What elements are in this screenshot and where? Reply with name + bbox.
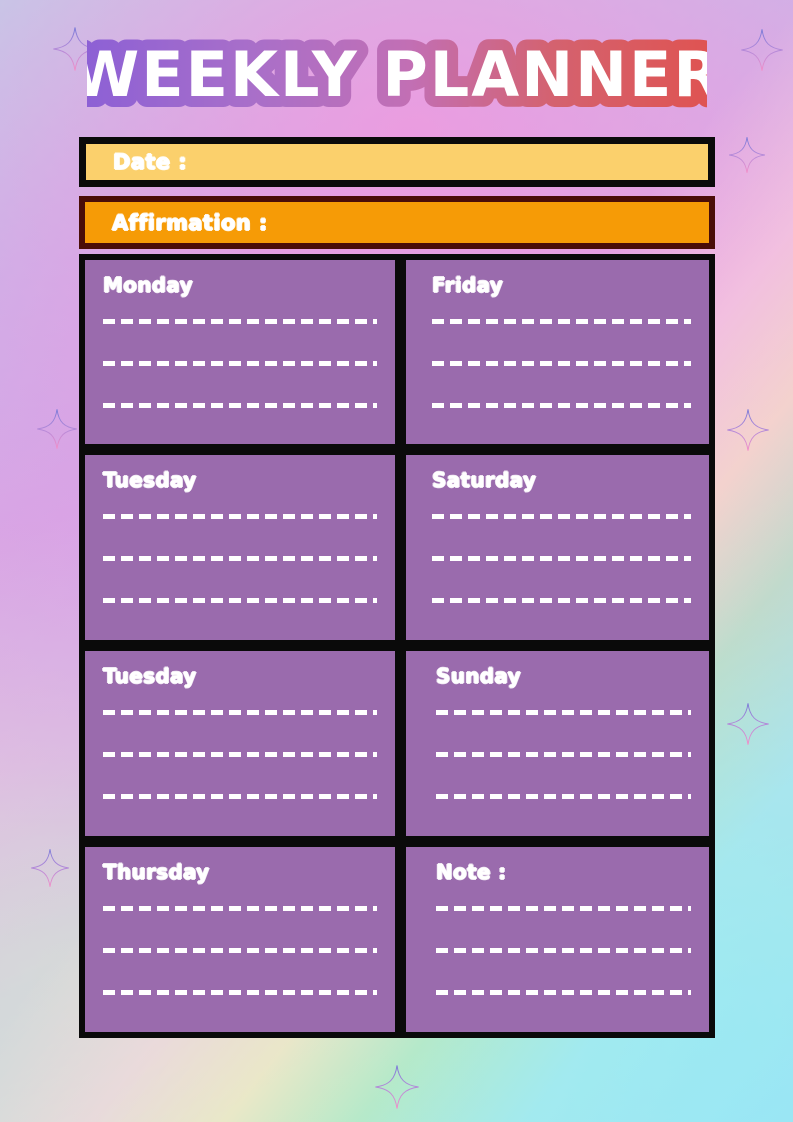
writing-lines[interactable] bbox=[432, 300, 691, 432]
sparkle-icon-bottom-center bbox=[374, 1064, 420, 1110]
sparkle-icon-right-middle bbox=[726, 408, 770, 452]
writing-line[interactable] bbox=[103, 598, 377, 603]
cell-title: Tuesday bbox=[103, 469, 377, 491]
writing-lines[interactable] bbox=[436, 691, 691, 824]
planner-page: WEEKLY PLANNER WEEKLY PLANNER Date : Aff… bbox=[0, 0, 793, 1122]
writing-line[interactable] bbox=[103, 794, 377, 799]
page-title: WEEKLY PLANNER WEEKLY PLANNER bbox=[0, 36, 793, 120]
cell-title: Tuesday bbox=[103, 665, 377, 687]
writing-line[interactable] bbox=[432, 403, 691, 408]
affirmation-field[interactable]: Affirmation : bbox=[79, 196, 715, 249]
planner-cell-saturday[interactable]: Saturday bbox=[401, 450, 715, 646]
cell-title: Note : bbox=[436, 861, 691, 883]
cell-title: Thursday bbox=[103, 861, 377, 883]
writing-line[interactable] bbox=[436, 752, 691, 757]
writing-line[interactable] bbox=[432, 319, 691, 324]
planner-cell-thursday[interactable]: Thursday bbox=[79, 842, 401, 1038]
date-label: Date : bbox=[113, 150, 187, 174]
affirmation-label: Affirmation : bbox=[112, 211, 268, 235]
writing-lines[interactable] bbox=[103, 495, 377, 628]
writing-line[interactable] bbox=[432, 514, 691, 519]
writing-lines[interactable] bbox=[103, 691, 377, 824]
writing-line[interactable] bbox=[103, 990, 377, 995]
writing-line[interactable] bbox=[436, 710, 691, 715]
writing-line[interactable] bbox=[103, 319, 377, 324]
planner-cell-tuesday[interactable]: Tuesday bbox=[79, 450, 401, 646]
planner-grid: Monday Friday bbox=[79, 254, 715, 1038]
cell-title: Saturday bbox=[432, 469, 691, 491]
planner-cell-wednesday[interactable]: Tuesday bbox=[79, 646, 401, 842]
cell-title: Friday bbox=[432, 274, 691, 296]
writing-line[interactable] bbox=[432, 361, 691, 366]
sparkle-icon-left-lower bbox=[30, 848, 70, 888]
writing-line[interactable] bbox=[103, 752, 377, 757]
svg-text:WEEKLY PLANNER: WEEKLY PLANNER bbox=[87, 38, 707, 111]
writing-lines[interactable] bbox=[436, 887, 691, 1020]
writing-line[interactable] bbox=[103, 361, 377, 366]
cell-title: Sunday bbox=[436, 665, 691, 687]
planner-cell-friday[interactable]: Friday bbox=[401, 254, 715, 450]
sparkle-icon-right-lower bbox=[726, 702, 770, 746]
planner-cell-sunday[interactable]: Sunday bbox=[401, 646, 715, 842]
writing-lines[interactable] bbox=[103, 300, 377, 432]
writing-line[interactable] bbox=[432, 598, 691, 603]
date-field[interactable]: Date : bbox=[79, 137, 715, 187]
sparkle-icon-left-middle bbox=[36, 408, 78, 450]
planner-cell-note[interactable]: Note : bbox=[401, 842, 715, 1038]
cell-title: Monday bbox=[103, 274, 377, 296]
writing-line[interactable] bbox=[103, 403, 377, 408]
writing-line[interactable] bbox=[103, 514, 377, 519]
sparkle-icon-right-upper bbox=[728, 136, 766, 174]
writing-lines[interactable] bbox=[103, 887, 377, 1020]
writing-line[interactable] bbox=[436, 948, 691, 953]
planner-cell-monday[interactable]: Monday bbox=[79, 254, 401, 450]
writing-line[interactable] bbox=[436, 794, 691, 799]
writing-line[interactable] bbox=[436, 990, 691, 995]
writing-line[interactable] bbox=[103, 710, 377, 715]
writing-line[interactable] bbox=[103, 906, 377, 911]
writing-line[interactable] bbox=[103, 556, 377, 561]
planner-body: Date : Affirmation : Monday Friday bbox=[79, 137, 715, 1038]
writing-line[interactable] bbox=[436, 906, 691, 911]
writing-line[interactable] bbox=[103, 948, 377, 953]
writing-lines[interactable] bbox=[432, 495, 691, 628]
writing-line[interactable] bbox=[432, 556, 691, 561]
